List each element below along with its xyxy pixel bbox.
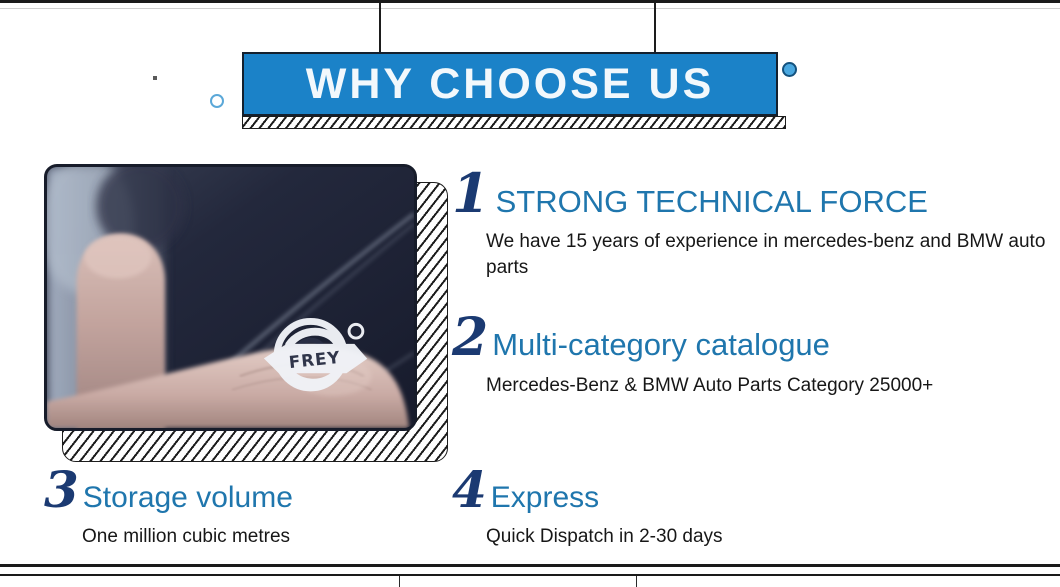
feature-item-3: 3 Storage volume One million cubic metre… bbox=[44, 465, 293, 550]
feature-2-title: Multi-category catalogue bbox=[492, 329, 830, 360]
feature-1-heading-row: 1 STRONG TECHNICAL FORCE bbox=[452, 166, 1060, 220]
bottom-tick-left bbox=[399, 576, 400, 587]
feature-2-number: 2 bbox=[452, 312, 488, 364]
feature-2-heading-row: 2 Multi-category catalogue bbox=[452, 312, 933, 364]
feature-4-description: Quick Dispatch in 2-30 days bbox=[486, 524, 723, 550]
feature-item-1: 1 STRONG TECHNICAL FORCE We have 15 year… bbox=[452, 166, 1060, 280]
feature-1-description: We have 15 years of experience in merced… bbox=[486, 229, 1060, 280]
feature-4-heading-row: 4 Express bbox=[452, 465, 723, 515]
top-border-rule bbox=[0, 0, 1060, 3]
why-choose-us-banner: WHY CHOOSE US bbox=[242, 52, 778, 116]
feature-1-number: 1 bbox=[452, 166, 490, 220]
product-photo: FREY bbox=[44, 164, 417, 431]
feature-3-heading-row: 3 Storage volume bbox=[44, 465, 293, 515]
banner-group: WHY CHOOSE US bbox=[242, 52, 778, 116]
banner-hatched-shadow bbox=[242, 116, 786, 129]
bottom-border-rule-secondary bbox=[0, 574, 1060, 576]
banner-title: WHY CHOOSE US bbox=[306, 63, 715, 106]
photo-artwork: FREY bbox=[47, 167, 414, 428]
hollow-circle-decoration bbox=[210, 94, 224, 108]
banner-connector-line-left bbox=[379, 3, 381, 56]
feature-3-description: One million cubic metres bbox=[82, 524, 293, 550]
solid-circle-decoration bbox=[782, 62, 797, 77]
bottom-tick-right bbox=[636, 576, 637, 587]
tiny-dot-decoration bbox=[153, 76, 157, 80]
banner-connector-line-right bbox=[654, 3, 656, 56]
feature-item-4: 4 Express Quick Dispatch in 2-30 days bbox=[452, 465, 723, 550]
feature-item-2: 2 Multi-category catalogue Mercedes-Benz… bbox=[452, 312, 933, 399]
feature-4-number: 4 bbox=[452, 465, 487, 515]
top-border-rule-secondary bbox=[0, 8, 1060, 9]
product-photo-group: FREY bbox=[44, 164, 430, 444]
feature-3-title: Storage volume bbox=[83, 483, 293, 513]
why-choose-us-panel: WHY CHOOSE US bbox=[0, 0, 1060, 587]
feature-1-title: STRONG TECHNICAL FORCE bbox=[496, 186, 928, 217]
feature-4-title: Express bbox=[491, 483, 599, 513]
feature-3-number: 3 bbox=[44, 465, 79, 515]
feature-2-description: Mercedes-Benz & BMW Auto Parts Category … bbox=[486, 373, 933, 399]
bottom-border-rule bbox=[0, 564, 1060, 567]
